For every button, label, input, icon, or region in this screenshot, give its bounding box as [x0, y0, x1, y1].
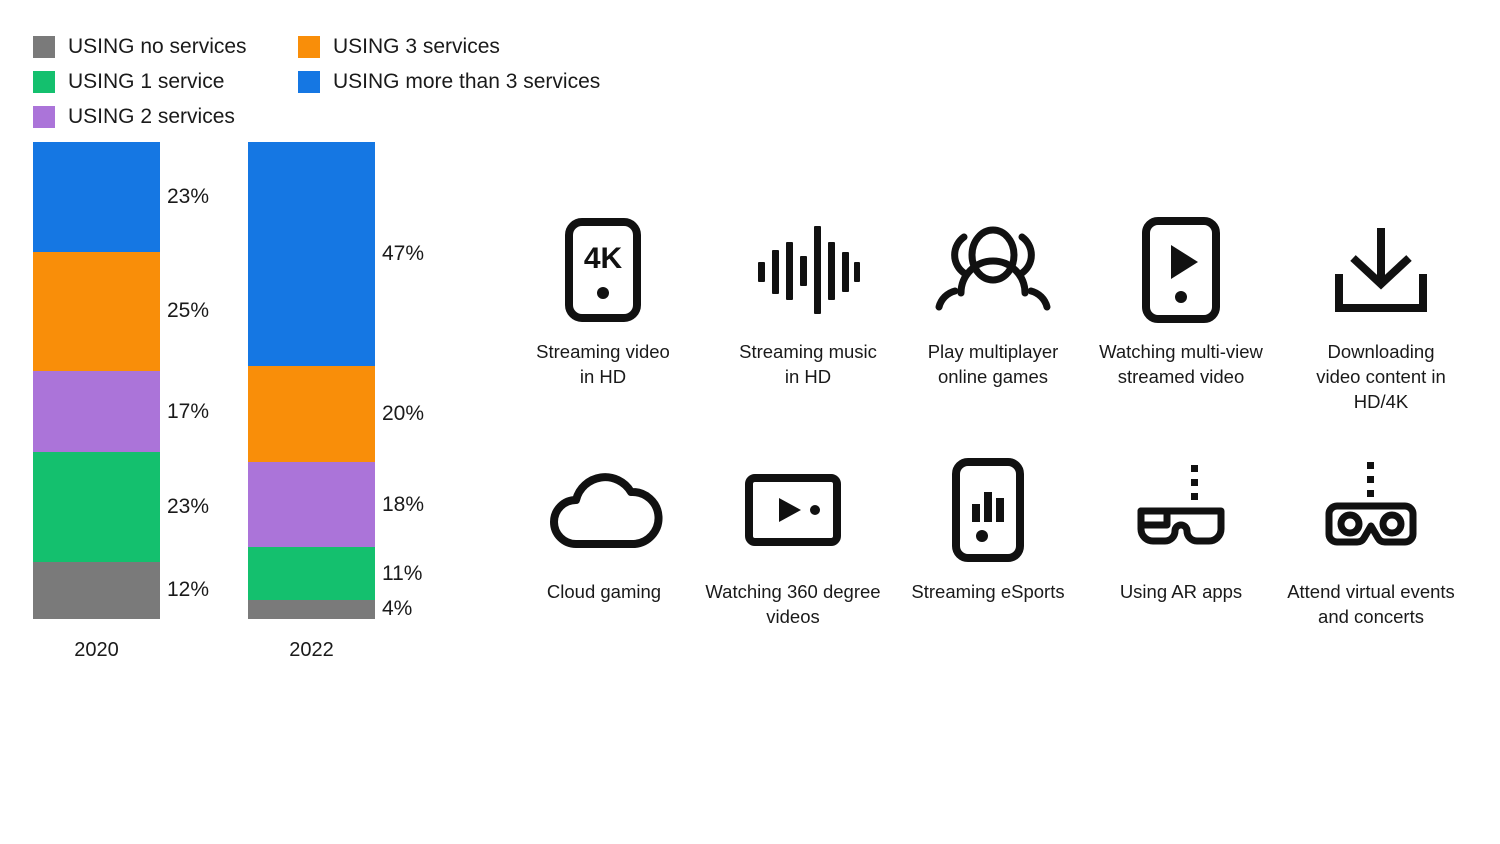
- bar-segment: 12%: [33, 562, 160, 619]
- bar-segment: 18%: [248, 462, 375, 548]
- download-tray-icon: [1283, 215, 1479, 325]
- use-case-caption: Downloadingvideo content inHD/4K: [1283, 339, 1479, 414]
- use-case-cell: Streaming musicin HD: [710, 215, 906, 389]
- use-case-cell: Using AR apps: [1083, 455, 1279, 604]
- bar-segment: 23%: [33, 452, 160, 562]
- bar-segment-label: 18%: [382, 493, 424, 517]
- use-case-cell: Play multiplayeronline games: [895, 215, 1091, 389]
- screen-360-play-icon: [695, 455, 891, 565]
- use-case-caption: Play multiplayeronline games: [895, 339, 1091, 389]
- bar-segment-label: 23%: [167, 185, 209, 209]
- bar-segment-label: 20%: [382, 402, 424, 426]
- use-case-caption: Streaming musicin HD: [710, 339, 906, 389]
- use-case-caption: Watching 360 degreevideos: [695, 579, 891, 629]
- bar-segment-label: 11%: [382, 562, 422, 586]
- svg-text:4K: 4K: [584, 242, 623, 275]
- use-case-cell: 4K Streaming videoin HD: [505, 215, 701, 389]
- bar-stack-2020: 23%25%17%23%12%: [33, 142, 160, 619]
- sound-wave-icon: [710, 215, 906, 325]
- multiplayer-people-icon: [895, 215, 1091, 325]
- bar-segment: 4%: [248, 600, 375, 619]
- bar-segment: 11%: [248, 547, 375, 599]
- bar-segment-label: 25%: [167, 299, 209, 323]
- cloud-icon: [506, 455, 702, 565]
- bar-segment: 23%: [33, 142, 160, 252]
- use-case-cell: Watching multi-viewstreamed video: [1083, 215, 1279, 389]
- bar-segment-label: 17%: [167, 400, 209, 424]
- bar-segment-label: 23%: [167, 495, 209, 519]
- bar-segment: 25%: [33, 252, 160, 371]
- use-case-caption: Streaming eSports: [890, 579, 1086, 604]
- bar-segment-label: 47%: [382, 242, 424, 266]
- bar-stack-2022: 47%20%18%11%4%: [248, 142, 375, 619]
- use-case-cell: Attend virtual eventsand concerts: [1273, 455, 1469, 629]
- bar-category-label-2020: 2020: [33, 639, 160, 662]
- phone-bar-chart-icon: [890, 455, 1086, 565]
- use-case-cell: Watching 360 degreevideos: [695, 455, 891, 629]
- bar-segment-label: 4%: [382, 597, 412, 621]
- bar-segment: 17%: [33, 371, 160, 452]
- use-case-cell: Cloud gaming: [506, 455, 702, 604]
- vr-headset-icon: [1273, 455, 1469, 565]
- stacked-bar-chart: 23%25%17%23%12%202047%20%18%11%4%2022: [0, 0, 470, 760]
- bar-segment-label: 12%: [167, 578, 209, 602]
- use-case-icon-grid: 4K Streaming videoin HD Streaming musici…: [505, 215, 1490, 695]
- icon-row-2: Cloud gaming Watching 360 degreevideos S…: [505, 455, 1490, 695]
- use-case-cell: Streaming eSports: [890, 455, 1086, 604]
- use-case-cell: Downloadingvideo content inHD/4K: [1283, 215, 1479, 414]
- use-case-caption: Using AR apps: [1083, 579, 1279, 604]
- use-case-caption: Cloud gaming: [506, 579, 702, 604]
- use-case-caption: Watching multi-viewstreamed video: [1083, 339, 1279, 389]
- phone-4k-icon: 4K: [505, 215, 701, 325]
- phone-play-icon: [1083, 215, 1279, 325]
- use-case-caption: Attend virtual eventsand concerts: [1273, 579, 1469, 629]
- bar-segment: 47%: [248, 142, 375, 366]
- icon-row-1: 4K Streaming videoin HD Streaming musici…: [505, 215, 1490, 455]
- bar-category-label-2022: 2022: [248, 639, 375, 662]
- use-case-caption: Streaming videoin HD: [505, 339, 701, 389]
- bar-segment: 20%: [248, 366, 375, 461]
- ar-glasses-icon: [1083, 455, 1279, 565]
